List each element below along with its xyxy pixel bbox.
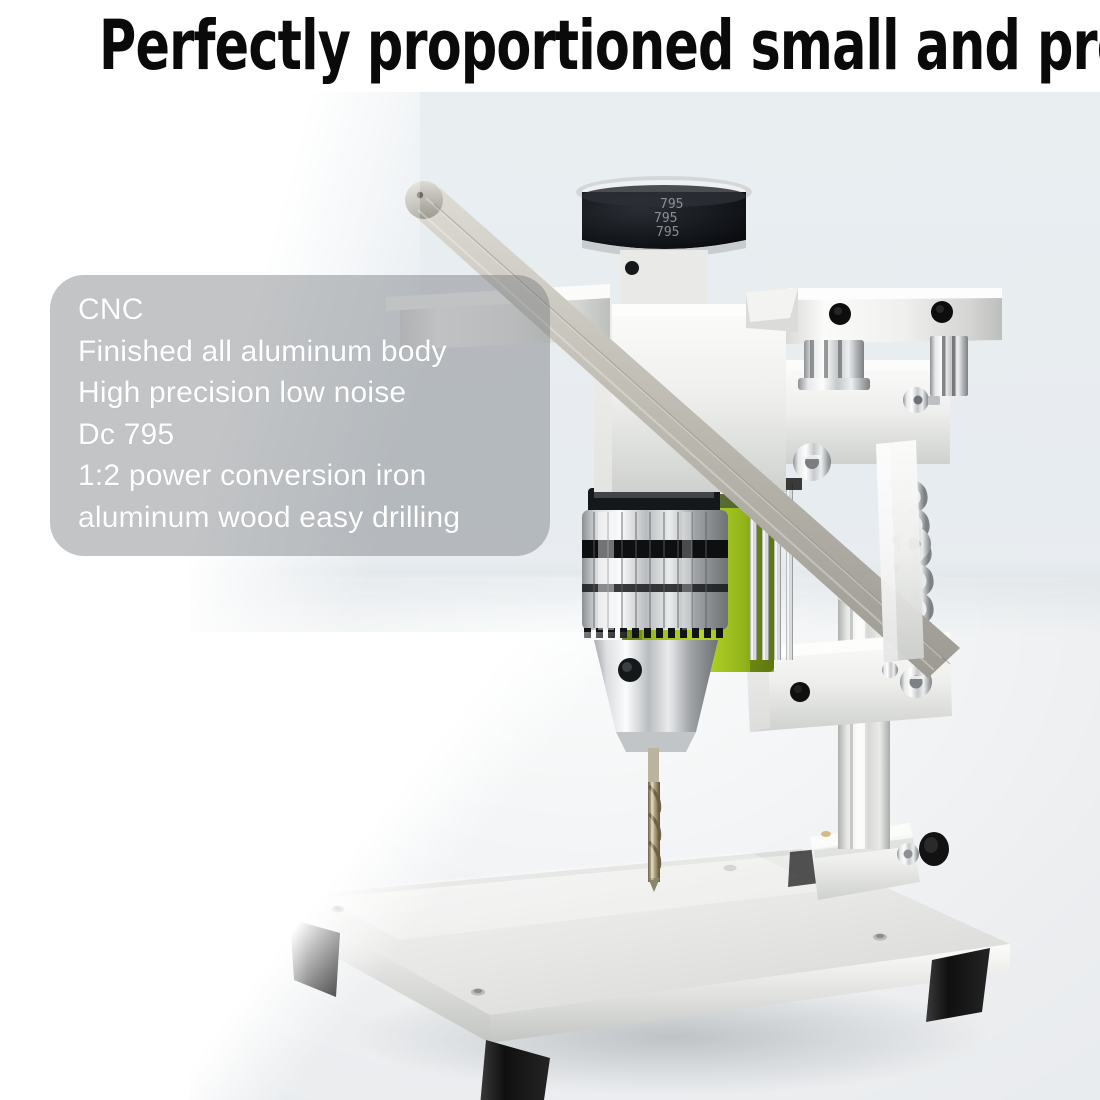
photo-corner-fade	[190, 632, 630, 1100]
vertical-slide-plate	[876, 440, 924, 662]
marketing-image-canvas: Perfectly proportioned small and precise	[0, 0, 1100, 1100]
svg-text:795: 795	[656, 225, 679, 240]
spec-line: 1:2 power conversion iron	[78, 455, 536, 497]
spec-line: Finished all aluminum body	[78, 331, 536, 373]
spec-line: High precision low noise	[78, 372, 536, 414]
spec-line: Dc 795	[78, 414, 536, 456]
svg-text:795: 795	[660, 197, 683, 212]
svg-text:795: 795	[654, 211, 677, 226]
spec-line: aluminum wood easy drilling	[78, 497, 536, 539]
twist-drill-bit	[648, 748, 660, 892]
spec-list: CNC Finished all aluminum body High prec…	[78, 289, 536, 538]
product-photo: 795 795 795	[190, 92, 1100, 1100]
page-headline: Perfectly proportioned small and precise	[99, 4, 1001, 88]
spec-panel: CNC Finished all aluminum body High prec…	[50, 275, 550, 556]
spec-line: CNC	[78, 289, 536, 331]
